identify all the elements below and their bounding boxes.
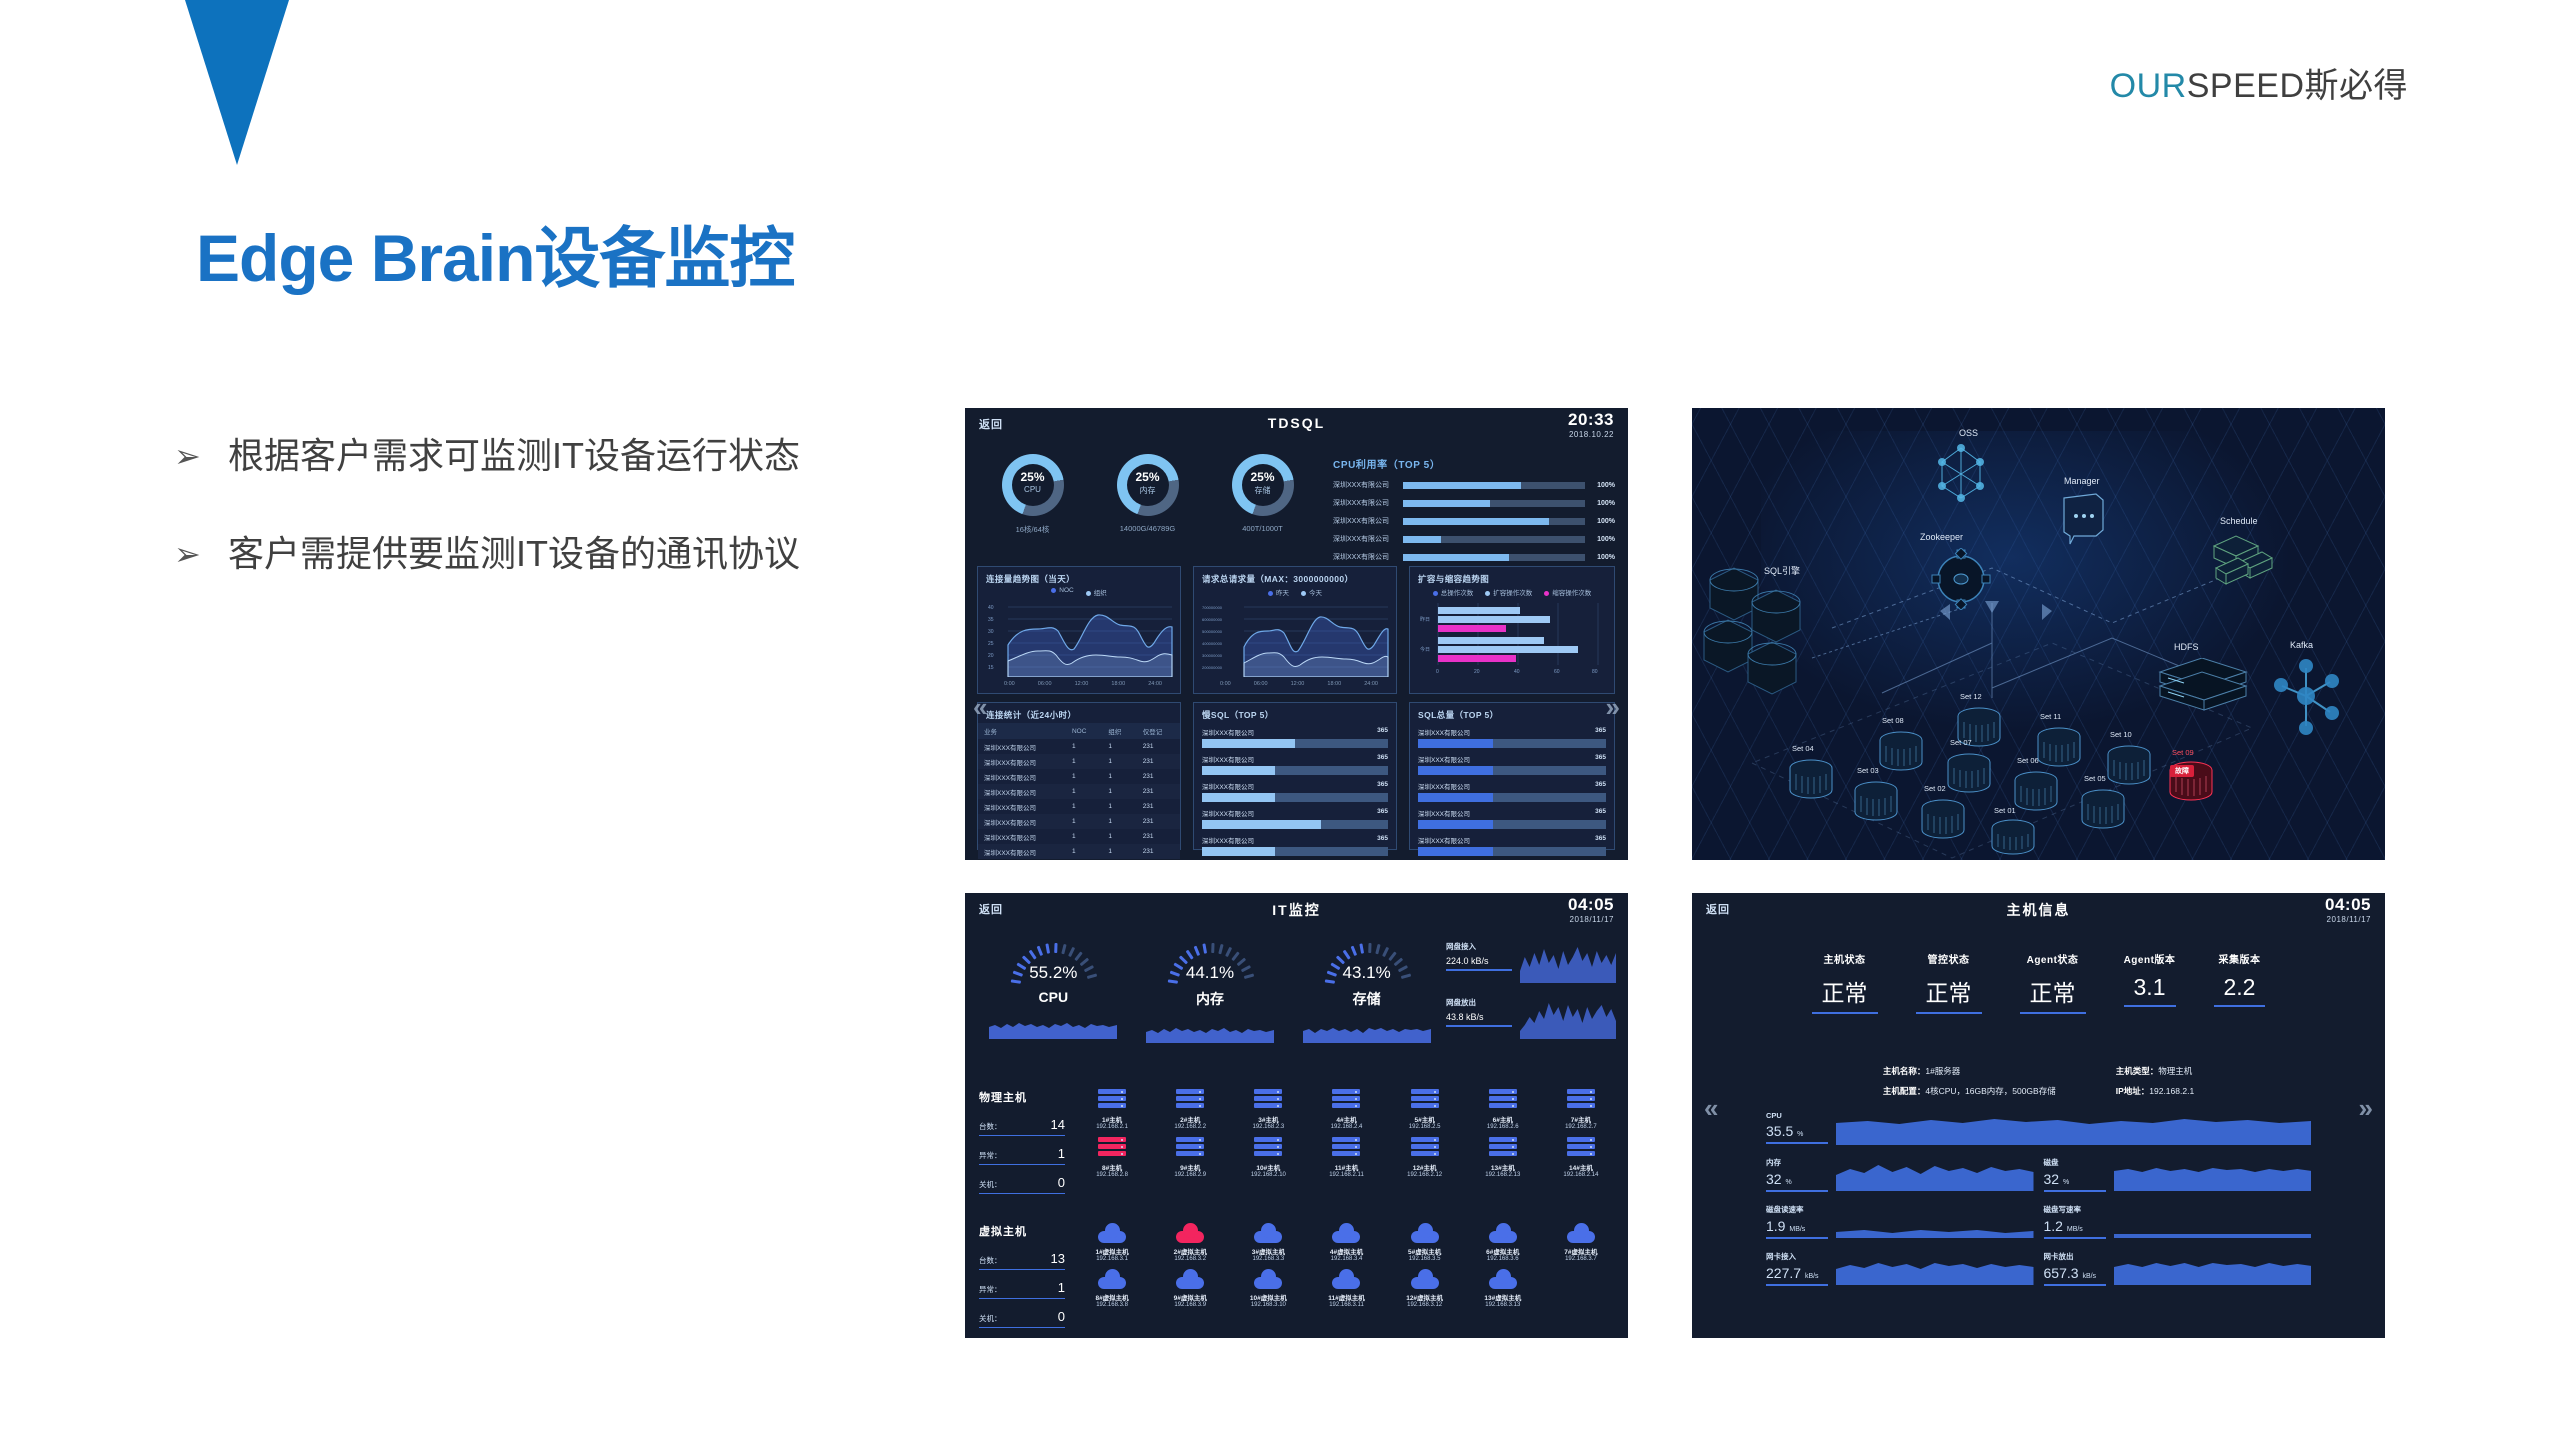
arc-value: 44.1% xyxy=(1165,963,1255,983)
vm-cell[interactable]: 9#虚拟主机192.168.3.9 xyxy=(1151,1269,1229,1308)
table-row: 深圳XXX有限公司11231 xyxy=(978,784,1180,799)
chart-xaxis: 0:0006:00 12:0018:00 24:00 xyxy=(978,681,1180,691)
cloud-fault-icon xyxy=(1176,1223,1204,1243)
vm-cell[interactable]: 8#虚拟主机192.168.3.8 xyxy=(1073,1269,1151,1308)
topology-node-manager[interactable]: Manager xyxy=(2064,476,2100,486)
page-title: Edge Brain设备监控 xyxy=(196,205,794,301)
topology-set-12[interactable]: Set 12 xyxy=(1960,692,1982,701)
cpu-sparkline xyxy=(989,1013,1117,1039)
table-header-cell: 组织 xyxy=(1102,723,1136,739)
chart-legend: 总操作次数 扩容操作次数 缩容操作次数 xyxy=(1410,587,1614,599)
corner-triangle-decoration xyxy=(185,0,289,165)
svg-text:600000000: 600000000 xyxy=(1202,617,1223,622)
status-badge: 故障 xyxy=(2170,765,2194,777)
cpu-graph xyxy=(1836,1111,2311,1145)
data-table: 业务 NOC 组织 仅登记 深圳XXX有限公司11231 深圳XXX有限公司11… xyxy=(978,723,1180,860)
vm-cell[interactable]: 6#虚拟主机192.168.3.6 xyxy=(1464,1223,1542,1262)
cpu-top5-pct: 100% xyxy=(1585,482,1615,489)
topology-set-06[interactable]: Set 06 xyxy=(2017,756,2039,765)
itmon-date: 2018/11/17 xyxy=(1568,915,1614,924)
server-icon xyxy=(1567,1089,1595,1111)
chart-plot: 昨日今日 020 406080 xyxy=(1416,599,1608,677)
cloud-icon xyxy=(1567,1223,1595,1243)
bullet-list: ➢ 根据客户需求可监测IT设备运行状态 ➢ 客户需提供要监测IT设备的通讯协议 xyxy=(228,418,888,614)
tdsql-date: 2018.10.22 xyxy=(1568,430,1614,439)
cpu-top5-row: 深圳XXX有限公司 100% xyxy=(1333,480,1615,490)
virtual-hosts-section: 虚拟主机 台数：13 异常：1 关机：0 1#虚拟主机192.168.3.1 2… xyxy=(965,1223,1628,1333)
db-cylinder-icon xyxy=(1851,780,1901,824)
gauge-ring-icon: 25% CPU xyxy=(1002,454,1064,516)
host-info-dashboard-screenshot[interactable]: 返回 主机信息 04:05 2018/11/17 主机状态正常 管控状态正常 A… xyxy=(1692,893,2385,1338)
table-row: 深圳XXX有限公司11231 xyxy=(978,844,1180,859)
hostinfo-title: 主机信息 xyxy=(1692,900,2385,920)
legend-item: 组织 xyxy=(1086,587,1107,597)
cloud-icon xyxy=(1254,1223,1282,1243)
chart-title: 扩容与缩容趋势图 xyxy=(1410,567,1614,587)
host-cell[interactable]: 11#主机192.168.2.11 xyxy=(1307,1137,1385,1178)
arc-value: 43.1% xyxy=(1322,963,1412,983)
hostinfo-clock: 04:05 2018/11/17 xyxy=(2325,895,2371,924)
table-row: 深圳XXX有限公司11231 xyxy=(978,799,1180,814)
cloud-icon xyxy=(1489,1223,1517,1243)
cpu-top5-row: 深圳XXX有限公司 100% xyxy=(1333,552,1615,562)
cloud-icon xyxy=(1098,1223,1126,1243)
slow-sql-top5[interactable]: 慢SQL（TOP 5） 深圳XXX有限公司365 深圳XXX有限公司365 深圳… xyxy=(1193,702,1397,850)
network-in-value: 224.0 kB/s xyxy=(1446,956,1512,971)
topology-set-09[interactable]: Set 09 xyxy=(2172,748,2194,757)
virtual-hosts-abnormal: 异常：1 xyxy=(979,1280,1065,1299)
host-cell[interactable]: 6#主机192.168.2.6 xyxy=(1464,1089,1542,1130)
server-icon xyxy=(1176,1137,1204,1159)
vm-cell[interactable]: 4#虚拟主机192.168.3.4 xyxy=(1307,1223,1385,1262)
list-item: 深圳XXX有限公司365 xyxy=(1418,835,1606,856)
metric-disk-read: 磁盘读速率 1.9 MB/s xyxy=(1766,1204,2034,1239)
net-out-graph xyxy=(2114,1251,2312,1285)
tdsql-clock: 20:33 2018.10.22 xyxy=(1568,410,1614,439)
metric-disk-write: 磁盘写速率 1.2 MB/s xyxy=(2044,1204,2312,1239)
architecture-topology-screenshot[interactable]: OSS Manager Schedule Zookeeper xyxy=(1692,408,2385,860)
cpu-top5-fill xyxy=(1403,500,1490,507)
host-cell[interactable]: 1#主机192.168.2.1 xyxy=(1073,1089,1151,1130)
virtual-hosts-off: 关机：0 xyxy=(979,1309,1065,1328)
db-cylinder-icon xyxy=(1918,798,1968,842)
hub-icon xyxy=(2272,656,2342,736)
legend-item: 缩容操作次数 xyxy=(1544,587,1591,597)
db-cylinder-icon xyxy=(1876,730,1926,774)
hostinfo-date: 2018/11/17 xyxy=(2325,915,2371,924)
vm-cell[interactable]: 5#虚拟主机192.168.3.5 xyxy=(1386,1223,1464,1262)
svg-text:35: 35 xyxy=(988,617,994,623)
server-icon xyxy=(2154,658,2254,720)
chart-title: 连接量趋势图（当天） xyxy=(978,567,1180,587)
cpu-top5-pct: 100% xyxy=(1585,518,1615,525)
metric-cpu: CPU 35.5 % xyxy=(1766,1111,2311,1145)
connection-stats-table[interactable]: 连接统计（近24小时） 业务 NOC 组织 仅登记 深圳XXX有限公司11231… xyxy=(977,702,1181,850)
cpu-top5-row: 深圳XXX有限公司 100% xyxy=(1333,498,1615,508)
status-host: 主机状态正常 xyxy=(1812,951,1878,1014)
arc-segments-icon: 44.1% xyxy=(1165,941,1255,987)
network-out-label: 网盘放出 xyxy=(1446,997,1512,1008)
collector-version: 采集版本2.2 xyxy=(2214,951,2266,1014)
list-item-label: 根据客户需求可监测IT设备运行状态 xyxy=(228,435,800,476)
server-icon xyxy=(1332,1089,1360,1111)
network-out-value: 43.8 kB/s xyxy=(1446,1012,1512,1027)
server-icon xyxy=(1098,1089,1126,1111)
arc-gauge-cpu: 55.2% CPU xyxy=(988,941,1118,1043)
net-in-graph xyxy=(1836,1251,2034,1285)
network-in-graph xyxy=(1520,941,1616,983)
arc-label: 存储 xyxy=(1302,989,1432,1009)
db-cylinder-icon xyxy=(2078,788,2128,832)
gauge-storage: 25% 存储 400T/1000T xyxy=(1213,454,1313,533)
topology-set-01[interactable]: Set 01 xyxy=(1994,806,2016,815)
vm-cell[interactable]: 12#虚拟主机192.168.3.12 xyxy=(1386,1269,1464,1308)
legend-item: NOC xyxy=(1051,587,1073,597)
host-cell[interactable]: 4#主机192.168.2.4 xyxy=(1307,1089,1385,1130)
sql-total-top5[interactable]: SQL总量（TOP 5） 深圳XXX有限公司365 深圳XXX有限公司365 深… xyxy=(1409,702,1615,850)
topology-node-hdfs[interactable]: HDFS xyxy=(2174,642,2199,652)
physical-hosts-off: 关机：0 xyxy=(979,1175,1065,1194)
storage-sparkline xyxy=(1303,1017,1431,1043)
gear-icon xyxy=(1928,548,1994,610)
table-header-cell: NOC xyxy=(1066,723,1102,739)
table-header-row: 业务 NOC 组织 仅登记 xyxy=(978,723,1180,739)
scaling-ops-chart[interactable]: 扩容与缩容趋势图 总操作次数 扩容操作次数 缩容操作次数 昨日今日 xyxy=(1409,566,1615,694)
list-item: 深圳XXX有限公司365 xyxy=(1418,781,1606,802)
gauge-memory: 25% 内存 14000G/46789G xyxy=(1098,454,1198,533)
cpu-top5-name: 深圳XXX有限公司 xyxy=(1333,534,1403,544)
svg-text:今日: 今日 xyxy=(1420,646,1430,653)
db-cylinder-icon xyxy=(2011,770,2061,814)
list-item: 深圳XXX有限公司365 xyxy=(1418,808,1606,829)
host-cell[interactable]: 7#主机192.168.2.7 xyxy=(1542,1089,1620,1130)
metric-row: 内存 32 % 磁盘 32 % xyxy=(1766,1157,2311,1192)
legend-item: 扩容操作次数 xyxy=(1485,587,1532,597)
topology-set-11[interactable]: Set 11 xyxy=(2040,712,2061,721)
table-title: 连接统计（近24小时） xyxy=(978,703,1180,723)
chat-icon xyxy=(2058,492,2108,548)
physical-hosts-section: 物理主机 台数：14 异常：1 关机：0 1#主机192.168.2.1 2#主… xyxy=(965,1089,1628,1209)
cloud-icon xyxy=(1254,1269,1282,1289)
topology-set-04[interactable]: Set 04 xyxy=(1792,744,1814,753)
table-row: 深圳XXX有限公司11231 xyxy=(978,769,1180,784)
gauge-cpu: 25% CPU 16核/64核 xyxy=(983,454,1083,535)
server-icon xyxy=(1489,1137,1517,1159)
cloud-icon xyxy=(1489,1269,1517,1289)
cpu-top5-track xyxy=(1403,482,1585,489)
svg-text:25: 25 xyxy=(988,641,994,647)
table-row: 深圳XXX有限公司11231 xyxy=(978,739,1180,754)
legend-item: 今天 xyxy=(1301,587,1322,597)
table-row: 深圳XXX有限公司11231 xyxy=(978,829,1180,844)
chart-title: 请求总请求量（MAX：3000000000） xyxy=(1194,567,1396,587)
cpu-top5-pct: 100% xyxy=(1585,554,1615,561)
server-icon xyxy=(1176,1089,1204,1111)
memory-graph xyxy=(1836,1157,2034,1191)
cpu-top5-fill xyxy=(1403,536,1441,543)
network-out-graph xyxy=(1520,997,1616,1039)
network-in-row: 网盘接入 224.0 kB/s xyxy=(1446,941,1616,983)
db-cylinder-icon xyxy=(2104,744,2154,788)
status-control: 管控状态正常 xyxy=(1916,951,1982,1014)
tdsql-title: TDSQL xyxy=(965,415,1628,431)
gauge-value: 25% xyxy=(1117,470,1179,484)
svg-text:昨日: 昨日 xyxy=(1420,616,1430,623)
virtual-hosts-total: 台数：13 xyxy=(979,1251,1065,1270)
chart-legend: NOC 组织 xyxy=(978,587,1180,599)
metric-row: CPU 35.5 % xyxy=(1766,1111,2311,1145)
vm-cell[interactable]: 1#虚拟主机192.168.3.1 xyxy=(1073,1223,1151,1262)
svg-text:40: 40 xyxy=(988,605,994,611)
vm-cell[interactable]: 10#虚拟主机192.168.3.10 xyxy=(1229,1269,1307,1308)
gauge-value: 25% xyxy=(1002,470,1064,484)
topology-set-02[interactable]: Set 02 xyxy=(1924,784,1946,793)
chart-legend: 昨天 今天 xyxy=(1194,587,1396,599)
list-title: 慢SQL（TOP 5） xyxy=(1194,703,1396,723)
server-icon xyxy=(1254,1089,1282,1111)
legend-item: 总操作次数 xyxy=(1433,587,1474,597)
cloud-icon xyxy=(1176,1269,1204,1289)
disk-graph xyxy=(2114,1157,2312,1191)
hostinfo-header: 返回 主机信息 04:05 2018/11/17 xyxy=(1692,893,2385,927)
topology-node-schedule[interactable]: Schedule xyxy=(2220,516,2258,526)
svg-text:400000000: 400000000 xyxy=(1202,641,1223,646)
gauge-sub: 400T/1000T xyxy=(1213,524,1313,533)
topology-node-kafka[interactable]: Kafka xyxy=(2290,640,2313,650)
topology-set-08[interactable]: Set 08 xyxy=(1882,716,1904,725)
topology-set-03[interactable]: Set 03 xyxy=(1857,766,1879,775)
cpu-top5-track xyxy=(1403,500,1585,507)
brand-logo-highlight: OUR xyxy=(2110,67,2187,105)
vm-cell[interactable]: 11#虚拟主机192.168.3.11 xyxy=(1307,1269,1385,1308)
table-row: 深圳XXX有限公司11231 xyxy=(978,754,1180,769)
list-title: SQL总量（TOP 5） xyxy=(1410,703,1614,723)
list-item: ➢ 根据客户需求可监测IT设备运行状态 xyxy=(228,418,888,494)
server-icon xyxy=(1411,1089,1439,1111)
host-cell[interactable]: 5#主机192.168.2.5 xyxy=(1386,1089,1464,1130)
itmon-time: 04:05 xyxy=(1568,895,1614,915)
vm-cell[interactable]: 13#虚拟主机192.168.3.13 xyxy=(1464,1269,1542,1308)
cpu-top5-title: CPU利用率（TOP 5） xyxy=(1333,456,1615,471)
cpu-top5-row: 深圳XXX有限公司 100% xyxy=(1333,534,1615,544)
topology-set-10[interactable]: Set 10 xyxy=(2110,730,2132,739)
cpu-top5-pct: 100% xyxy=(1585,536,1615,543)
svg-text:500000000: 500000000 xyxy=(1202,629,1223,634)
arc-segments-icon: 55.2% xyxy=(1008,941,1098,987)
db-cylinder-icon xyxy=(1786,758,1836,802)
bullet-arrow-icon: ➢ xyxy=(174,418,201,494)
gauge-sub: 14000G/46789G xyxy=(1098,524,1198,533)
network-throughput-panel: 网盘接入 224.0 kB/s 网盘放出 43.8 kB/s xyxy=(1446,941,1616,1053)
list-item: 深圳XXX有限公司365 xyxy=(1202,754,1388,775)
network-in-label: 网盘接入 xyxy=(1446,941,1512,952)
list-item: 深圳XXX有限公司365 xyxy=(1418,754,1606,775)
physical-hosts-abnormal: 异常：1 xyxy=(979,1146,1065,1165)
disk-read-graph xyxy=(1836,1204,2034,1238)
db-cylinder-icon xyxy=(1944,752,1994,796)
hostinfo-meta-right: 主机类型：物理主机 IP地址：192.168.2.1 xyxy=(2116,1061,2194,1101)
host-cell[interactable]: 12#主机192.168.2.12 xyxy=(1386,1137,1464,1178)
chart-plot: 700000000600000000 500000000400000000 30… xyxy=(1200,599,1390,677)
list-item: 深圳XXX有限公司365 xyxy=(1202,808,1388,829)
physical-hosts-total: 台数：14 xyxy=(979,1117,1065,1136)
next-host-chevron-icon[interactable]: » xyxy=(2359,1093,2373,1124)
svg-text:60: 60 xyxy=(1554,669,1560,675)
virtual-hosts-title: 虚拟主机 xyxy=(979,1223,1065,1239)
svg-text:40: 40 xyxy=(1514,669,1520,675)
host-cell[interactable]: 14#主机192.168.2.14 xyxy=(1542,1137,1620,1178)
itmon-header: 返回 IT监控 04:05 2018/11/17 xyxy=(965,893,1628,927)
db-cylinder-icon xyxy=(2034,726,2084,770)
hostinfo-meta-left: 主机名称：1#服务器 主机配置：4核CPU，16GB内存，500GB存储 xyxy=(1883,1061,2056,1101)
list-item: 深圳XXX有限公司365 xyxy=(1202,727,1388,748)
cpu-top5-track xyxy=(1403,536,1585,543)
list-item: 深圳XXX有限公司365 xyxy=(1418,727,1606,748)
gauge-value: 25% xyxy=(1232,470,1294,484)
svg-text:15: 15 xyxy=(988,665,994,671)
table-header-cell: 业务 xyxy=(978,723,1066,739)
host-cell[interactable]: 13#主机192.168.2.13 xyxy=(1464,1137,1542,1178)
vm-cell[interactable]: 7#虚拟主机192.168.3.7 xyxy=(1542,1223,1620,1262)
svg-text:700000000: 700000000 xyxy=(1202,605,1223,610)
metric-row: 磁盘读速率 1.9 MB/s 磁盘写速率 1.2 MB/s xyxy=(1766,1204,2311,1239)
cpu-top5-name: 深圳XXX有限公司 xyxy=(1333,516,1403,526)
vm-cell[interactable]: 3#虚拟主机192.168.3.3 xyxy=(1229,1223,1307,1262)
db-cylinder-icon xyxy=(1988,818,2038,858)
request-volume-chart[interactable]: 请求总请求量（MAX：3000000000） 昨天 今天 70000000060… xyxy=(1193,566,1397,694)
cpu-top5-name: 深圳XXX有限公司 xyxy=(1333,480,1403,490)
next-page-chevron-icon[interactable]: » xyxy=(1606,692,1620,723)
metric-net-out: 网卡放出 657.3 kB/s xyxy=(2044,1251,2312,1286)
tdsql-gauge-row: 25% CPU 16核/64核 25% 内存 14000G/46789G 25%… xyxy=(975,454,1320,554)
gauge-ring-icon: 25% 内存 xyxy=(1117,454,1179,516)
host-cell[interactable]: 3#主机192.168.2.3 xyxy=(1229,1089,1307,1130)
metric-net-in: 网卡接入 227.7 kB/s xyxy=(1766,1251,2034,1286)
hostinfo-time: 04:05 xyxy=(2325,895,2371,915)
cpu-top5-fill xyxy=(1403,554,1509,561)
metric-memory: 内存 32 % xyxy=(1766,1157,2034,1192)
svg-text:200000000: 200000000 xyxy=(1202,665,1223,670)
cpu-top5-panel: CPU利用率（TOP 5） 深圳XXX有限公司 100% 深圳XXX有限公司 1… xyxy=(1333,456,1615,570)
svg-text:80: 80 xyxy=(1592,669,1598,675)
arc-segments-icon: 43.1% xyxy=(1322,941,1412,987)
svg-text:20: 20 xyxy=(1474,669,1480,675)
arc-label: 内存 xyxy=(1145,989,1275,1009)
itmon-title: IT监控 xyxy=(965,900,1628,920)
virtual-hosts-grid: 1#虚拟主机192.168.3.1 2#虚拟主机192.168.3.2 3#虚拟… xyxy=(1073,1223,1620,1308)
agent-version: Agent版本3.1 xyxy=(2124,951,2176,1014)
chart-plot: 403530 252015 xyxy=(984,599,1174,677)
table-summary-row: 汇总101224523 xyxy=(978,859,1180,860)
physical-hosts-legend: 物理主机 台数：14 异常：1 关机：0 xyxy=(979,1089,1065,1204)
gauge-label: CPU xyxy=(1002,485,1064,494)
list-item: ➢ 客户需提供要监测IT设备的通讯协议 xyxy=(228,516,888,592)
server-icon xyxy=(1567,1137,1595,1159)
svg-text:0: 0 xyxy=(1436,669,1439,675)
host-cell[interactable]: 9#主机192.168.2.9 xyxy=(1151,1137,1229,1178)
server-icon xyxy=(1254,1137,1282,1159)
cloud-icon xyxy=(1332,1223,1360,1243)
arc-gauge-memory: 44.1% 内存 xyxy=(1145,941,1275,1043)
svg-text:30: 30 xyxy=(988,629,994,635)
cpu-top5-name: 深圳XXX有限公司 xyxy=(1333,552,1403,562)
physical-hosts-grid: 1#主机192.168.2.1 2#主机192.168.2.2 3#主机192.… xyxy=(1073,1089,1620,1178)
topology-node-oss[interactable]: OSS xyxy=(1959,428,1978,438)
legend-item: 昨天 xyxy=(1268,587,1289,597)
topology-set-05[interactable]: Set 05 xyxy=(2084,774,2106,783)
connection-trend-chart[interactable]: 连接量趋势图（当天） NOC 组织 403530 252015 0:00 xyxy=(977,566,1181,694)
topology-node-zookeeper[interactable]: Zookeeper xyxy=(1920,532,1963,542)
cloud-icon xyxy=(1411,1223,1439,1243)
cpu-top5-name: 深圳XXX有限公司 xyxy=(1333,498,1403,508)
tdsql-header: 返回 TDSQL 20:33 2018.10.22 xyxy=(965,408,1628,442)
memory-sparkline xyxy=(1146,1017,1274,1043)
server-icon xyxy=(1332,1137,1360,1159)
arc-gauge-storage: 43.1% 存储 xyxy=(1302,941,1432,1043)
list-item: 深圳XXX有限公司365 xyxy=(1202,781,1388,802)
disk-write-graph xyxy=(2114,1204,2312,1238)
cloud-icon xyxy=(1332,1269,1360,1289)
svg-text:300000000: 300000000 xyxy=(1202,653,1223,658)
gauge-sub: 16核/64核 xyxy=(983,524,1083,535)
cpu-top5-fill xyxy=(1403,518,1549,525)
hostinfo-metrics: CPU 35.5 % 内存 32 % 磁盘 32 % 磁盘读速率 1.9 MB/… xyxy=(1766,1111,2311,1298)
sql-total-rows: 深圳XXX有限公司365 深圳XXX有限公司365 深圳XXX有限公司365 深… xyxy=(1410,723,1614,856)
topology-set-07[interactable]: Set 07 xyxy=(1950,738,1972,747)
table-row: 深圳XXX有限公司11231 xyxy=(978,814,1180,829)
bullet-arrow-icon: ➢ xyxy=(174,516,201,592)
slow-sql-rows: 深圳XXX有限公司365 深圳XXX有限公司365 深圳XXX有限公司365 深… xyxy=(1194,723,1396,856)
rack-icon xyxy=(2210,532,2276,594)
gauge-label: 内存 xyxy=(1117,485,1179,496)
itmon-clock: 04:05 2018/11/17 xyxy=(1568,895,1614,924)
list-item-label: 客户需提供要监测IT设备的通讯协议 xyxy=(228,533,800,574)
tdsql-time: 20:33 xyxy=(1568,410,1614,430)
cpu-top5-fill xyxy=(1403,482,1521,489)
vm-cell-fault[interactable]: 2#虚拟主机192.168.3.2 xyxy=(1151,1223,1229,1262)
cloud-icon xyxy=(1411,1269,1439,1289)
arc-value: 55.2% xyxy=(1008,963,1098,983)
cpu-top5-track xyxy=(1403,518,1585,525)
metric-disk: 磁盘 32 % xyxy=(2044,1157,2312,1192)
brand-logo: OURSPEED斯必得 xyxy=(2110,58,2408,107)
prev-host-chevron-icon[interactable]: « xyxy=(1704,1093,1718,1124)
chart-xaxis: 0:0006:00 12:0018:00 24:00 xyxy=(1194,681,1396,691)
prev-page-chevron-icon[interactable]: « xyxy=(973,692,987,723)
gauge-ring-icon: 25% 存储 xyxy=(1232,454,1294,516)
network-out-row: 网盘放出 43.8 kB/s xyxy=(1446,997,1616,1039)
table-header-cell: 仅登记 xyxy=(1137,723,1180,739)
fault-badge: 故障 xyxy=(2170,760,2194,778)
cylinder-icon xyxy=(1700,560,1830,700)
tdsql-dashboard-screenshot[interactable]: 返回 TDSQL 20:33 2018.10.22 25% CPU 16核/64… xyxy=(965,408,1628,860)
server-icon xyxy=(1489,1089,1517,1111)
list-item: 深圳XXX有限公司365 xyxy=(1202,835,1388,856)
cpu-top5-track xyxy=(1403,554,1585,561)
server-fault-icon xyxy=(1098,1137,1126,1159)
cpu-top5-pct: 100% xyxy=(1585,500,1615,507)
host-cell[interactable]: 10#主机192.168.2.10 xyxy=(1229,1137,1307,1178)
gauge-label: 存储 xyxy=(1232,485,1294,496)
cpu-top5-row: 深圳XXX有限公司 100% xyxy=(1333,516,1615,526)
cloud-icon xyxy=(1098,1269,1126,1289)
host-cell[interactable]: 2#主机192.168.2.2 xyxy=(1151,1089,1229,1130)
it-monitor-dashboard-screenshot[interactable]: 返回 IT监控 04:05 2018/11/17 55.2% CPU xyxy=(965,893,1628,1338)
brand-logo-rest: SPEED斯必得 xyxy=(2187,67,2408,105)
svg-text:20: 20 xyxy=(988,653,994,659)
host-cell-fault[interactable]: 8#主机192.168.2.8 xyxy=(1073,1137,1151,1178)
physical-hosts-title: 物理主机 xyxy=(979,1089,1065,1105)
